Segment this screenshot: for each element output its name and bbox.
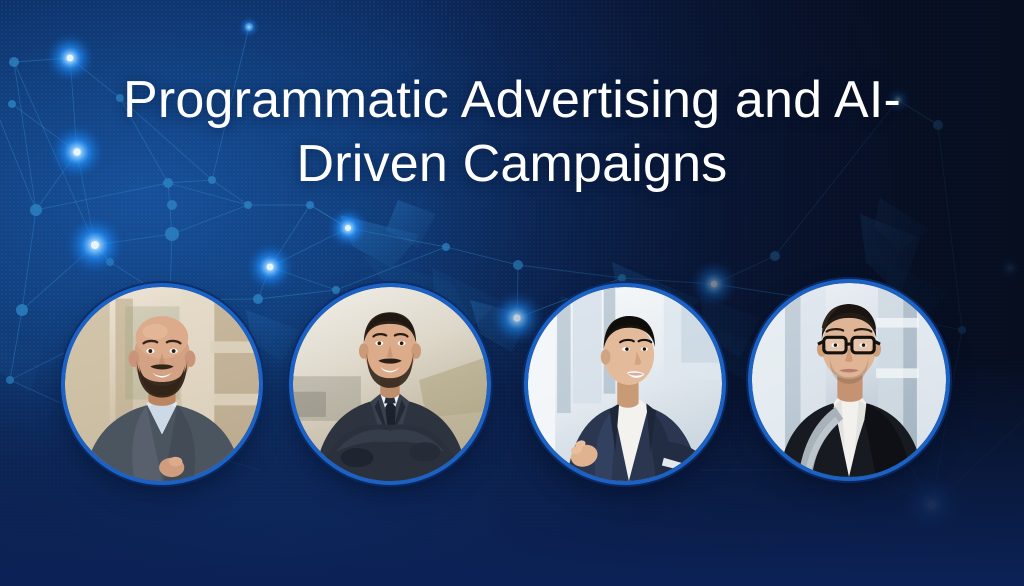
portrait-1-photo	[65, 287, 259, 481]
portrait-2-photo	[293, 287, 487, 481]
portrait-2	[293, 287, 487, 481]
portrait-4-photo	[752, 283, 946, 477]
portrait-1	[65, 287, 259, 481]
portrait-3	[528, 287, 722, 481]
portrait-3-photo	[528, 287, 722, 481]
banner-root: Programmatic Advertising and AI- Driven …	[0, 0, 1024, 586]
page-title: Programmatic Advertising and AI- Driven …	[0, 68, 1024, 196]
portrait-4	[752, 283, 946, 477]
